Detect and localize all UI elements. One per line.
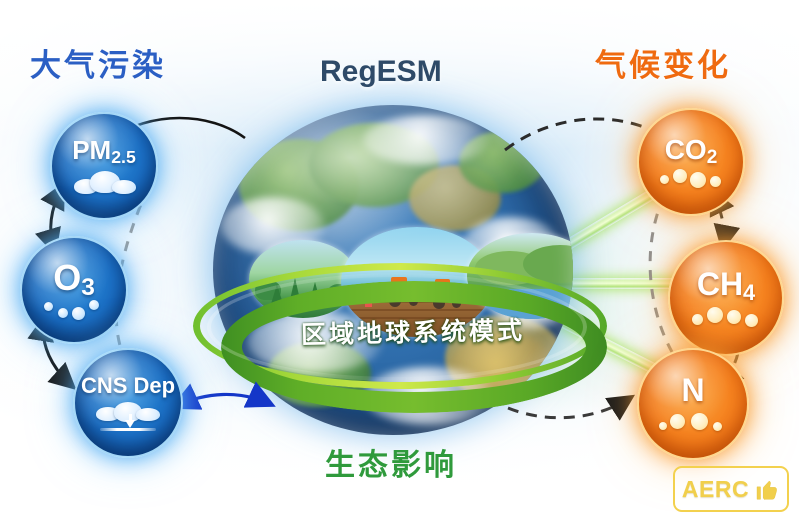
node-co2[interactable]: CO2 (637, 108, 745, 216)
node-n2o-label: N (681, 374, 704, 406)
bottom-title: 生态影响 (325, 440, 457, 484)
thumbs-up-icon (754, 476, 780, 502)
right-title: 气候变化 (595, 40, 731, 85)
aerc-logo-text: AERC (682, 476, 749, 503)
node-cns-dep[interactable]: CNS Dep (73, 348, 183, 458)
node-o3[interactable]: O3 (20, 236, 128, 344)
earth-globe: 区域地球系统模式 (193, 105, 593, 435)
center-title: RegESM (320, 55, 442, 89)
molecule-icon (42, 298, 106, 320)
molecule-icon (657, 410, 729, 434)
node-ch4[interactable]: CH4 (668, 240, 784, 356)
node-pm25[interactable]: PM2.5 (50, 112, 158, 220)
figure-canvas: 区域地球系统模式 (0, 0, 799, 518)
node-pm25-label: PM2.5 (72, 137, 136, 163)
band-title: 区域地球系统模式 (263, 310, 564, 352)
cloud-icon (68, 167, 140, 195)
left-title: 大气污染 (30, 40, 166, 85)
node-cns-dep-label: CNS Dep (81, 375, 175, 397)
molecule-icon (690, 304, 762, 328)
deposition-icon (92, 401, 164, 431)
molecule-icon (658, 167, 724, 189)
node-ch4-label: CH4 (697, 268, 755, 300)
node-n2o[interactable]: N (637, 348, 749, 460)
node-o3-label: O3 (53, 260, 95, 296)
aerc-logo[interactable]: AERC (673, 466, 789, 512)
node-co2-label: CO2 (665, 136, 718, 164)
